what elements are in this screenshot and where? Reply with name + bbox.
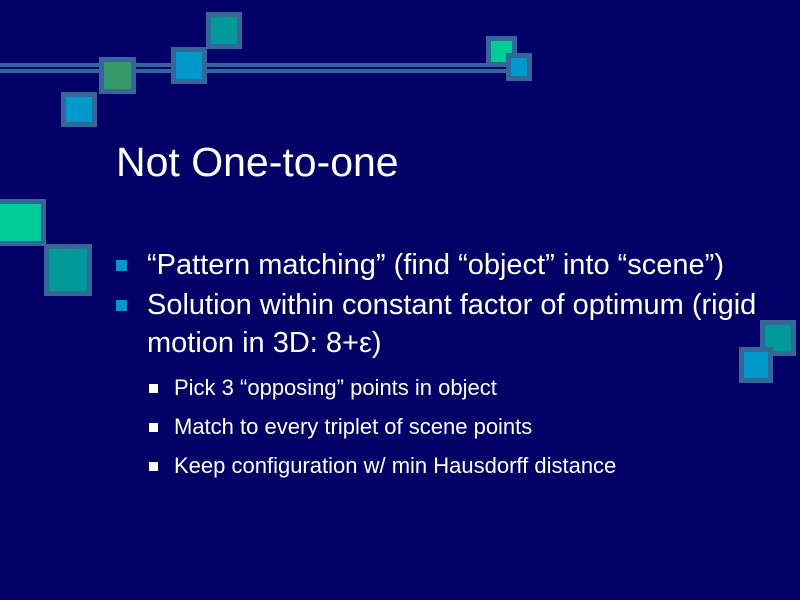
decor-square-blue-upper-left — [61, 92, 97, 127]
bullet-text: Solution within constant factor of optim… — [147, 289, 756, 359]
slide-title: Not One-to-one — [116, 138, 756, 186]
bullet-list-level2: Pick 3 “opposing” points in object Match… — [147, 368, 764, 485]
sub-bullet-item-match-triplet: Match to every triplet of scene points — [147, 407, 764, 446]
decor-square-teal-top — [206, 12, 242, 49]
bullet-text: “Pattern matching” (find “object” into “… — [147, 249, 724, 281]
sub-bullet-text: Pick 3 “opposing” points in object — [174, 375, 497, 400]
decor-square-teal-left — [44, 244, 92, 296]
sub-bullet-text: Keep configuration w/ min Hausdorff dist… — [174, 453, 616, 478]
slide-canvas: Not One-to-one “Pattern matching” (find … — [0, 0, 800, 600]
header-rule-left — [0, 63, 104, 73]
decor-square-blue-right — [506, 53, 532, 81]
sub-bullet-text: Match to every triplet of scene points — [174, 414, 532, 439]
sub-bullet-marker-icon — [149, 384, 158, 393]
slide-body: “Pattern matching” (find “object” into “… — [114, 246, 764, 487]
bullet-marker-icon — [116, 300, 127, 311]
sub-bullet-item-pick-points: Pick 3 “opposing” points in object — [147, 368, 764, 407]
decor-square-green-top — [99, 57, 136, 94]
sub-bullet-marker-icon — [149, 462, 158, 471]
header-rule-mid — [131, 63, 174, 73]
sub-bullet-marker-icon — [149, 423, 158, 432]
decor-square-blue-top — [171, 47, 207, 84]
bullet-marker-icon — [116, 260, 127, 271]
decor-square-spring-left — [0, 199, 46, 246]
bullet-list-level1: “Pattern matching” (find “object” into “… — [114, 246, 764, 485]
bullet-item-pattern-matching: “Pattern matching” (find “object” into “… — [114, 246, 764, 284]
bullet-item-solution-constant-factor: Solution within constant factor of optim… — [114, 286, 764, 485]
header-rule-right — [203, 63, 513, 73]
sub-bullet-item-keep-configuration: Keep configuration w/ min Hausdorff dist… — [147, 446, 764, 485]
